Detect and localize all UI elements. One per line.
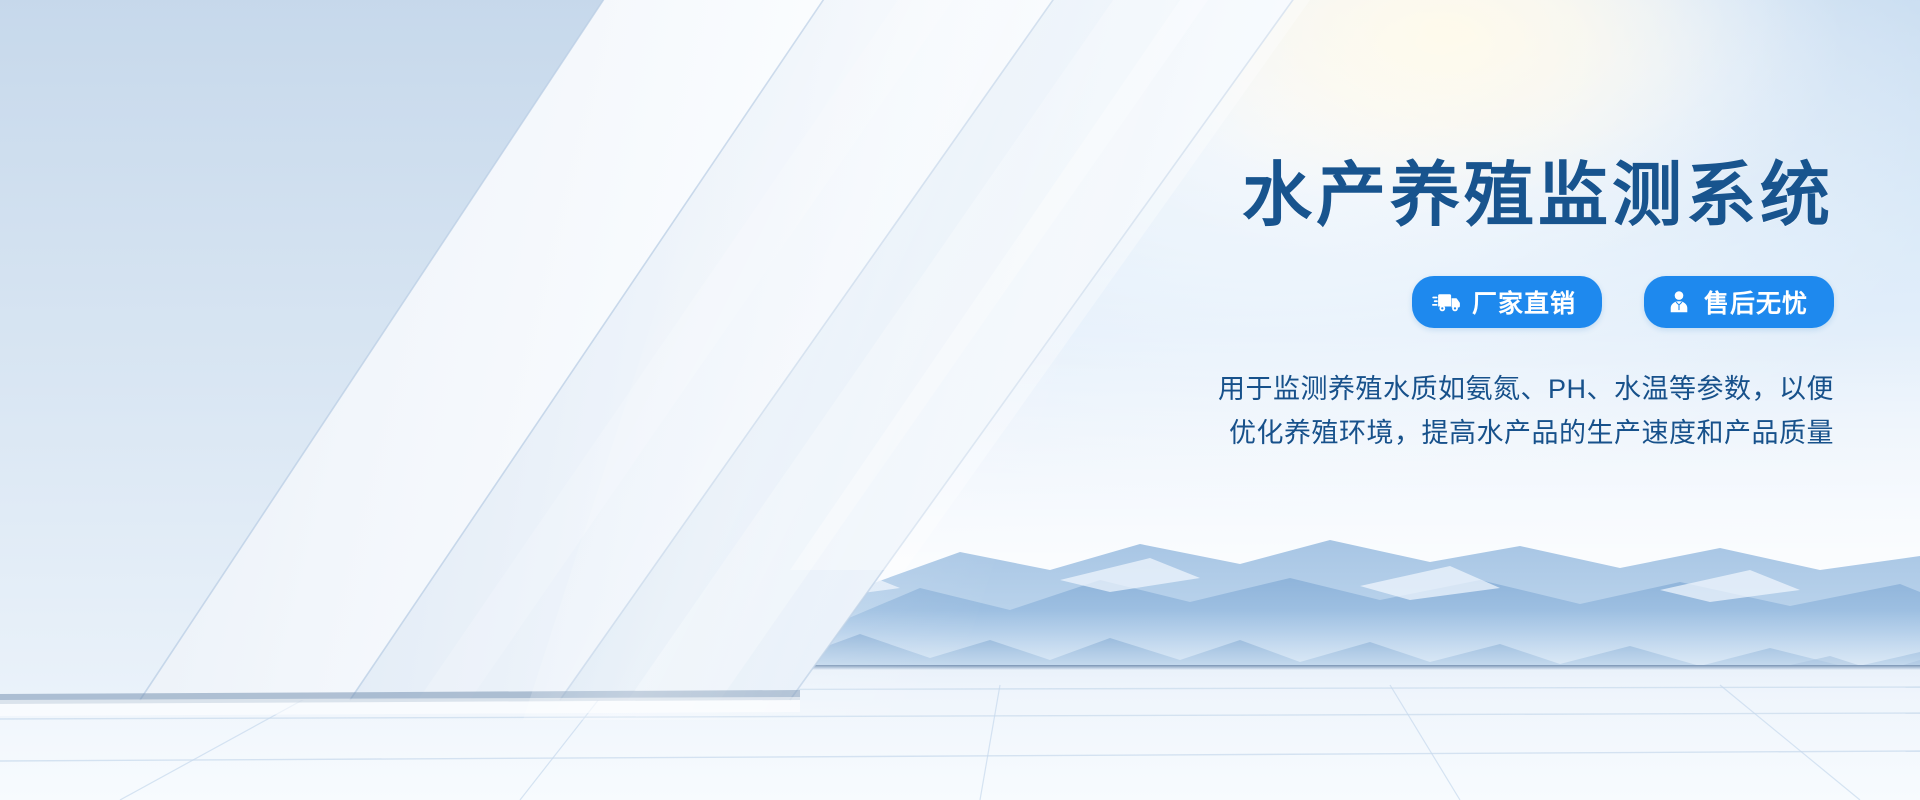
hero-content: 水产养殖监测系统 [1014, 160, 1834, 455]
customer-support-icon [1664, 287, 1694, 317]
badge-after-sales-label: 售后无忧 [1704, 284, 1808, 320]
badge-after-sales[interactable]: 售后无忧 [1644, 276, 1834, 328]
badge-factory-direct-label: 厂家直销 [1472, 284, 1576, 320]
badge-group: 厂家直销 售后无忧 [1014, 276, 1834, 328]
hero-banner: 水产养殖监测系统 [0, 0, 1920, 800]
description-line-2: 优化养殖环境，提高水产品的生产速度和产品质量 [1014, 412, 1834, 456]
description-line-1: 用于监测养殖水质如氨氮、PH、水温等参数，以便 [1014, 368, 1834, 412]
badge-factory-direct[interactable]: 厂家直销 [1412, 276, 1602, 328]
page-title: 水产养殖监测系统 [1014, 160, 1834, 230]
delivery-truck-icon [1432, 287, 1462, 317]
hero-description: 用于监测养殖水质如氨氮、PH、水温等参数，以便 优化养殖环境，提高水产品的生产速… [1014, 368, 1834, 455]
